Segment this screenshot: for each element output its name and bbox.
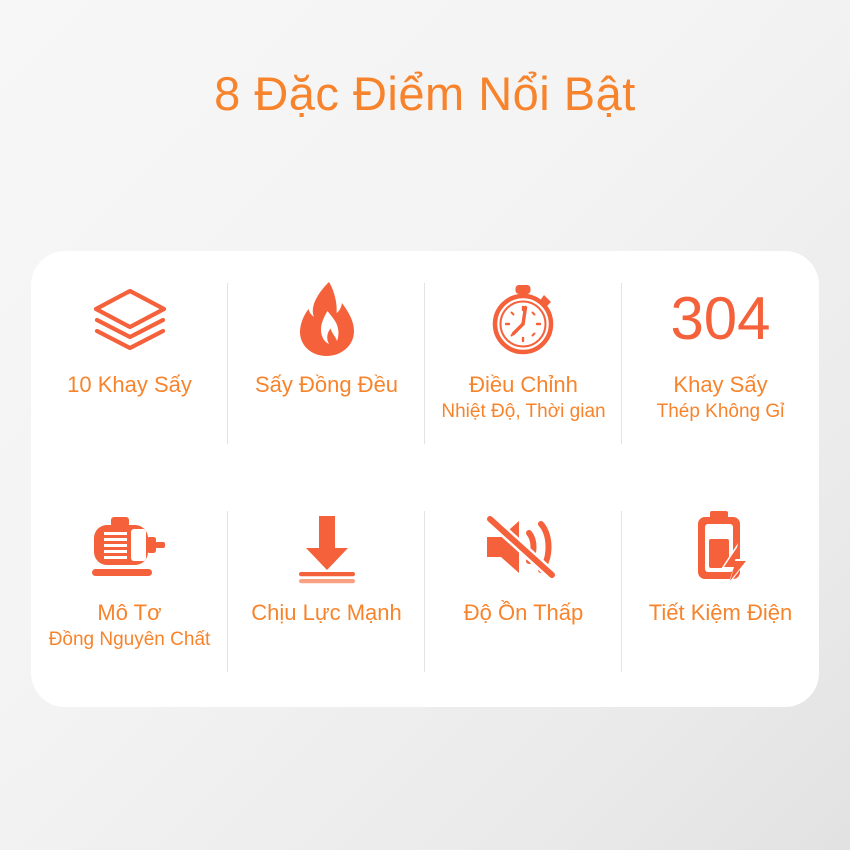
feature-label: Mô Tơ Đồng Nguyên Chất	[49, 599, 211, 652]
feature-label: Chịu Lực Mạnh	[251, 599, 401, 626]
feature-label-main: Độ Ồn Thấp	[464, 599, 583, 626]
speaker-mute-icon	[481, 505, 567, 589]
feature-item-10-tray[interactable]: 10 Khay Sấy	[31, 251, 228, 479]
layers-icon	[90, 277, 170, 361]
feature-item-motor[interactable]: Mô Tơ Đồng Nguyên Chất	[31, 479, 228, 707]
feature-label-main: 10 Khay Sấy	[67, 371, 192, 398]
features-panel: 10 Khay Sấy Sấy Đồng Đều	[31, 251, 819, 707]
feature-label-main: Mô Tơ	[49, 599, 211, 626]
electric-motor-icon	[87, 505, 173, 589]
feature-label-main: Tiết Kiệm Điện	[649, 599, 792, 626]
feature-item-load-bearing[interactable]: Chịu Lực Mạnh	[228, 479, 425, 707]
feature-item-low-noise[interactable]: Độ Ồn Thấp	[425, 479, 622, 707]
feature-label: Độ Ồn Thấp	[464, 599, 583, 626]
feature-item-adjustable[interactable]: Điều Chỉnh Nhiệt Độ, Thời gian	[425, 251, 622, 479]
feature-item-energy-saving[interactable]: Tiết Kiệm Điện	[622, 479, 819, 707]
feature-label-main: Khay Sấy	[657, 371, 785, 398]
steel-grade-value: 304	[670, 277, 770, 361]
features-grid: 10 Khay Sấy Sấy Đồng Đều	[31, 251, 819, 707]
steel-grade-number: 304	[670, 277, 770, 361]
feature-label-sub: Thép Không Gỉ	[657, 400, 785, 424]
feature-label-sub: Đồng Nguyên Chất	[49, 628, 211, 652]
feature-label: Khay Sấy Thép Không Gỉ	[657, 371, 785, 424]
stopwatch-icon	[484, 277, 564, 361]
down-arrow-press-icon	[291, 505, 363, 589]
feature-label-main: Điều Chỉnh	[441, 371, 605, 398]
feature-label: Sấy Đồng Đều	[255, 371, 398, 398]
feature-item-even-drying[interactable]: Sấy Đồng Đều	[228, 251, 425, 479]
feature-label-sub: Nhiệt Độ, Thời gian	[441, 400, 605, 424]
page-title: 8 Đặc Điểm Nổi Bật	[0, 66, 850, 122]
feature-label-main: Sấy Đồng Đều	[255, 371, 398, 398]
flame-icon	[299, 277, 355, 361]
feature-item-stainless-steel[interactable]: 304 Khay Sấy Thép Không Gỉ	[622, 251, 819, 479]
feature-label: Tiết Kiệm Điện	[649, 599, 792, 626]
feature-label: Điều Chỉnh Nhiệt Độ, Thời gian	[441, 371, 605, 424]
feature-label: 10 Khay Sấy	[67, 371, 192, 398]
battery-charge-icon	[686, 505, 756, 589]
feature-label-main: Chịu Lực Mạnh	[251, 599, 401, 626]
